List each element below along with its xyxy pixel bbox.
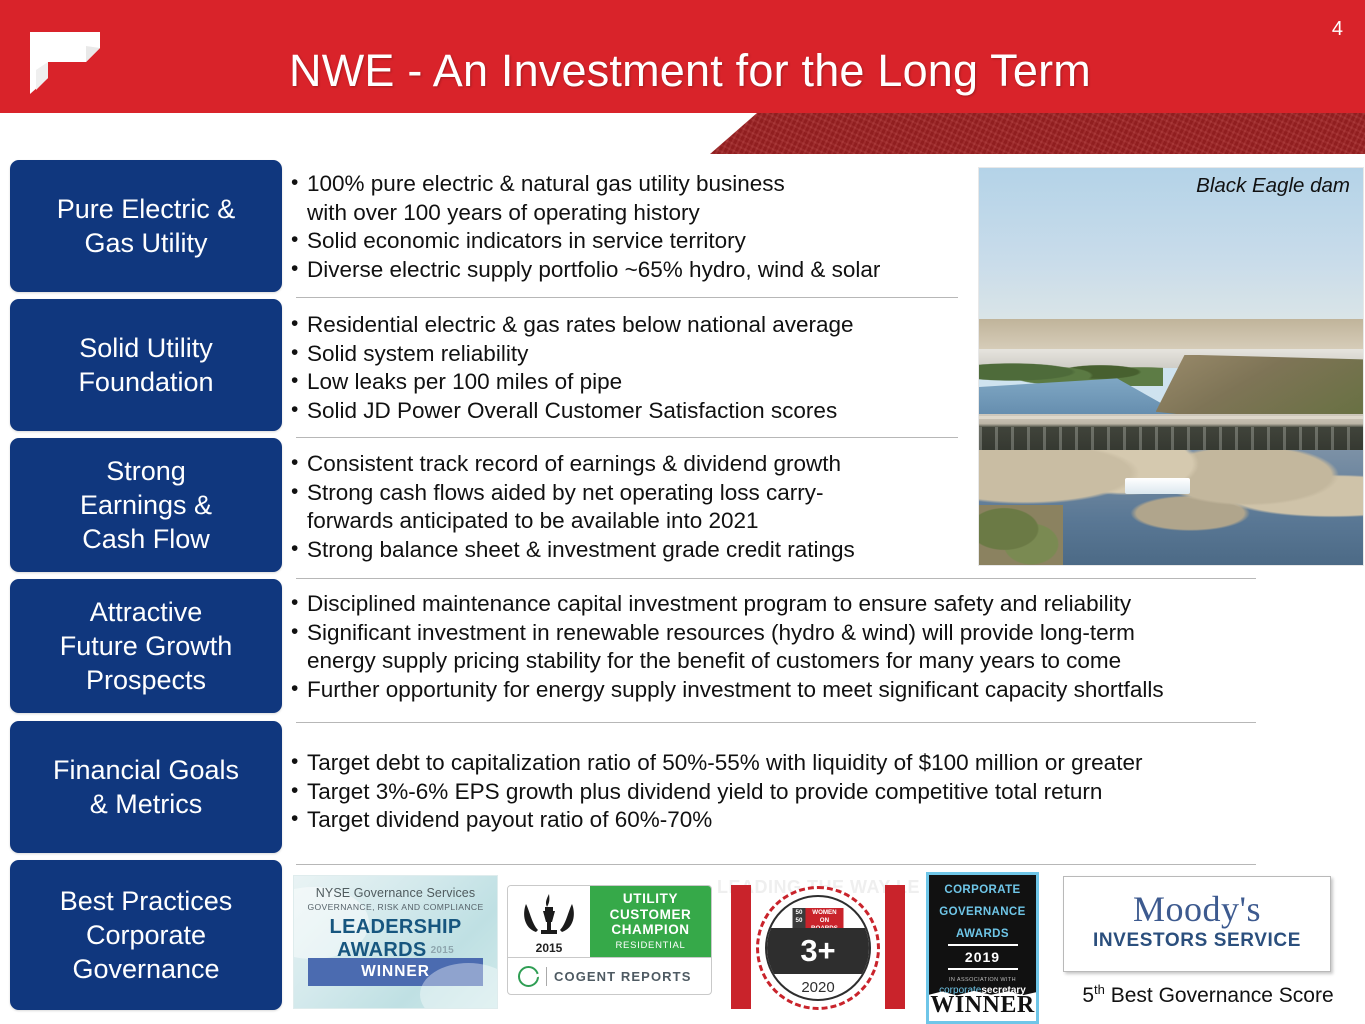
- award-logos-row: NYSE Governance Services GOVERNANCE, RIS…: [285, 872, 1365, 1024]
- cga-line3: AWARDS: [929, 927, 1036, 941]
- cogent-title2: CUSTOMER: [590, 907, 711, 923]
- bullet-text: Solid economic indicators in service ter…: [307, 228, 746, 253]
- award-cogent-utility-customer-champion: 2015 UTILITY CUSTOMER CHAMPION RESIDENTI…: [507, 885, 712, 995]
- cogent-brand-text: COGENT REPORTS: [554, 969, 691, 984]
- section-separator: [296, 722, 1256, 723]
- divider: [948, 968, 1018, 970]
- label-text: StrongEarnings &Cash Flow: [80, 454, 212, 556]
- sidebar-item-financial-goals-metrics[interactable]: Financial Goals& Metrics: [10, 721, 282, 853]
- list-item: Low leaks per 100 miles of pipe: [290, 368, 980, 397]
- bullets-pure-electric-gas-utility: 100% pure electric & natural gas utility…: [290, 170, 980, 284]
- moodys-caption: 5th Best Governance Score: [1063, 977, 1353, 1009]
- bullet-text: Further opportunity for energy supply in…: [307, 677, 1164, 702]
- sidebar-item-attractive-future-growth-prospects[interactable]: AttractiveFuture GrowthProspects: [10, 579, 282, 713]
- list-item: Target 3%-6% EPS growth plus dividend yi…: [290, 778, 1350, 807]
- cogent-title3: CHAMPION: [590, 922, 711, 938]
- list-item: Significant investment in renewable reso…: [290, 619, 1350, 676]
- bullet-text: Target 3%-6% EPS growth plus dividend yi…: [307, 779, 1102, 804]
- nwe-chevron-logo-icon: [26, 26, 104, 98]
- list-item: Further opportunity for energy supply in…: [290, 676, 1350, 705]
- label-text: AttractiveFuture GrowthProspects: [60, 595, 233, 697]
- section-separator: [296, 578, 1256, 579]
- list-item: 100% pure electric & natural gas utility…: [290, 170, 980, 227]
- section-separator: [296, 297, 958, 298]
- bullet-text: Solid system reliability: [307, 341, 528, 366]
- bullets-solid-utility-foundation: Residential electric & gas rates below n…: [290, 311, 980, 425]
- header-accent-band: [0, 113, 1365, 154]
- label-text: Solid UtilityFoundation: [78, 331, 213, 399]
- ordinal-suffix: th: [1094, 982, 1105, 997]
- decorative-red-bar-right: [885, 885, 905, 1009]
- sidebar-item-pure-electric-gas-utility[interactable]: Pure Electric &Gas Utility: [10, 160, 282, 292]
- nyse-winner-badge: WINNER: [308, 958, 483, 986]
- cogent-year: 2015: [508, 941, 590, 955]
- award-nyse-leadership-awards: NYSE Governance Services GOVERNANCE, RIS…: [293, 875, 498, 1009]
- page-title: NWE - An Investment for the Long Term: [120, 44, 1260, 98]
- list-item: Strong balance sheet & investment grade …: [290, 536, 980, 565]
- list-item: Diverse electric supply portfolio ~65% h…: [290, 256, 980, 285]
- divider: [546, 967, 547, 986]
- list-item: Consistent track record of earnings & di…: [290, 450, 980, 479]
- bullet-text: 100% pure electric & natural gas utility…: [307, 171, 785, 196]
- photo-caption: Black Eagle dam: [1040, 174, 1350, 198]
- photo-foreground-brush: [979, 505, 1063, 565]
- bullet-text: Disciplined maintenance capital investme…: [307, 591, 1131, 616]
- bullets-attractive-future-growth-prospects: Disciplined maintenance capital investme…: [290, 590, 1350, 704]
- bullets-strong-earnings-cash-flow: Consistent track record of earnings & di…: [290, 450, 980, 564]
- bullet-text: Consistent track record of earnings & di…: [307, 451, 841, 476]
- bullet-continuation: energy supply pricing stability for the …: [307, 647, 1350, 676]
- section-separator: [296, 437, 958, 438]
- cga-line1: CORPORATE: [929, 883, 1036, 897]
- bullet-continuation: forwards anticipated to be available int…: [307, 507, 980, 536]
- bullet-text: Strong balance sheet & investment grade …: [307, 537, 855, 562]
- section-separator: [296, 864, 1256, 865]
- photo-waterfall: [1125, 478, 1190, 494]
- cga-association: IN ASSOCIATION WITH: [929, 977, 1036, 983]
- photo-dam-walkway: [979, 416, 1363, 419]
- sidebar-item-best-practices-corporate-governance[interactable]: Best PracticesCorporateGovernance: [10, 860, 282, 1010]
- nyse-leadership: LEADERSHIP: [294, 916, 497, 939]
- cga-line2: GOVERNANCE: [929, 905, 1036, 919]
- black-eagle-dam-photo: [978, 167, 1364, 566]
- list-item: Disciplined maintenance capital investme…: [290, 590, 1350, 619]
- label-text: Financial Goals& Metrics: [53, 753, 239, 821]
- bullets-financial-goals-metrics: Target debt to capitalization ratio of 5…: [290, 749, 1350, 835]
- slide: NWE - An Investment for the Long Term 4 …: [0, 0, 1365, 1024]
- list-item: Residential electric & gas rates below n…: [290, 311, 980, 340]
- cogent-subtitle: RESIDENTIAL: [590, 940, 711, 951]
- seal-inner: 5050 WOMENON BOARDS 3+ 2020: [765, 895, 871, 1001]
- nyse-line1: NYSE Governance Services: [294, 886, 497, 900]
- photo-trees: [979, 351, 1163, 387]
- award-moodys-investors-service: Moody's INVESTORS SERVICE: [1063, 876, 1331, 972]
- list-item: Target debt to capitalization ratio of 5…: [290, 749, 1350, 778]
- bullet-text: Low leaks per 100 miles of pipe: [307, 369, 622, 394]
- torch-laurel-icon: 2015: [508, 886, 590, 958]
- cogent-top: 2015 UTILITY CUSTOMER CHAMPION RESIDENTI…: [508, 886, 711, 958]
- bullet-text: Diverse electric supply portfolio ~65% h…: [307, 257, 880, 282]
- list-item: Target dividend payout ratio of 60%-70%: [290, 806, 1350, 835]
- label-text: Best PracticesCorporateGovernance: [60, 884, 233, 986]
- cga-year: 2019: [929, 949, 1036, 965]
- cogent-green-panel: UTILITY CUSTOMER CHAMPION RESIDENTIAL: [590, 886, 711, 958]
- moodys-wordmark: Moody's: [1064, 890, 1330, 928]
- page-number: 4: [1332, 18, 1343, 40]
- list-item: Solid system reliability: [290, 340, 980, 369]
- bullet-text: Solid JD Power Overall Customer Satisfac…: [307, 398, 837, 423]
- bullet-continuation: with over 100 years of operating history: [307, 199, 980, 228]
- nyse-line2: GOVERNANCE, RISK AND COMPLIANCE: [294, 902, 497, 912]
- award-corporate-governance-awards: CORPORATE GOVERNANCE AWARDS 2019 IN ASSO…: [926, 872, 1039, 1024]
- cogent-title1: UTILITY: [590, 891, 711, 907]
- sidebar-item-solid-utility-foundation[interactable]: Solid UtilityFoundation: [10, 299, 282, 431]
- seal-rating: 3+: [767, 930, 869, 972]
- cogent-logo-icon: [518, 966, 539, 987]
- decorative-red-bar-left: [731, 885, 751, 1009]
- list-item: Strong cash flows aided by net operating…: [290, 479, 980, 536]
- bullet-text: Target debt to capitalization ratio of 5…: [307, 750, 1142, 775]
- list-item: Solid JD Power Overall Customer Satisfac…: [290, 397, 980, 426]
- bullet-text: Target dividend payout ratio of 60%-70%: [307, 807, 712, 832]
- women-on-boards-seal: 5050 WOMENON BOARDS 3+ 2020: [756, 886, 880, 1010]
- bullet-text: Strong cash flows aided by net operating…: [307, 480, 824, 505]
- divider: [948, 944, 1018, 946]
- seal-year: 2020: [767, 979, 869, 996]
- nyse-year: 2015: [431, 945, 454, 956]
- list-item: Solid economic indicators in service ter…: [290, 227, 980, 256]
- bullet-text: Residential electric & gas rates below n…: [307, 312, 854, 337]
- label-text: Pure Electric &Gas Utility: [57, 192, 236, 260]
- cogent-brand-bar: COGENT REPORTS: [508, 957, 711, 994]
- moodys-tagline: INVESTORS SERVICE: [1064, 930, 1330, 952]
- bullet-text: Significant investment in renewable reso…: [307, 620, 1135, 645]
- sidebar-item-strong-earnings-cash-flow[interactable]: StrongEarnings &Cash Flow: [10, 438, 282, 572]
- award-women-on-boards: LEADING THE WAY LEADING THE WAY LEADING …: [717, 875, 919, 1021]
